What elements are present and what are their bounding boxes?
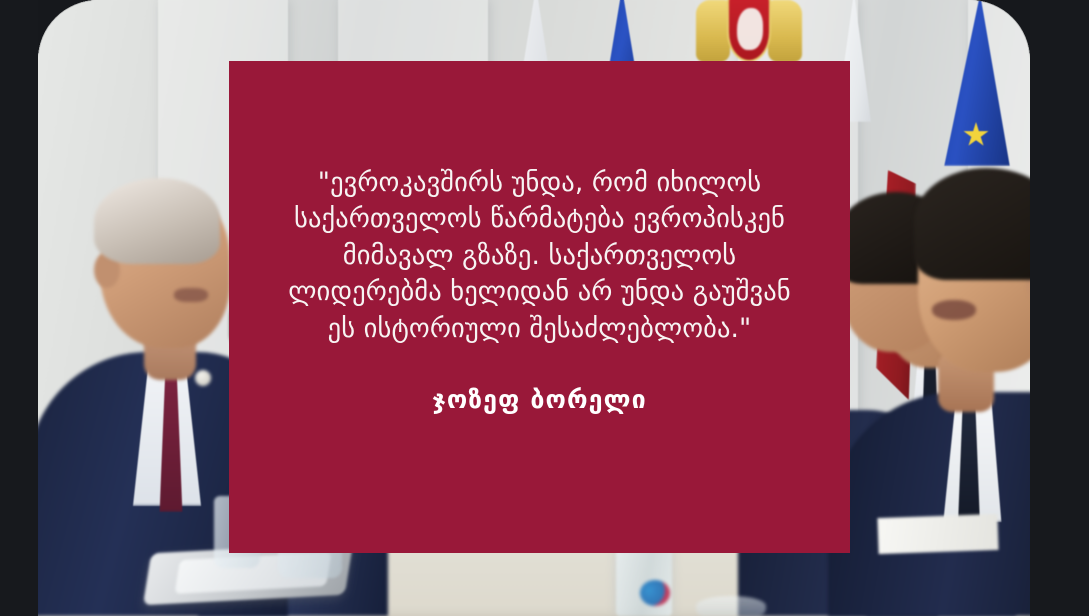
quote-author: ჯოზეფ ბორელი — [432, 385, 647, 414]
drinking-glass-center — [696, 596, 766, 616]
georgia-coat-of-arms-icon — [694, 0, 804, 68]
coat-shield — [727, 0, 771, 62]
frame-bar-left — [0, 0, 38, 616]
coat-lion-right — [768, 0, 802, 62]
coat-rider — [737, 8, 763, 50]
coat-lion-left — [696, 0, 730, 62]
quote-card: "ევროკავშირს უნდა, რომ იხილოს საქართველო… — [229, 61, 850, 553]
papers-right — [877, 514, 998, 554]
screenshot-root: "ევროკავშირს უნდა, რომ იხილოს საქართველო… — [0, 0, 1089, 616]
water-bottle-label — [640, 580, 670, 606]
frame-bar-right — [1030, 0, 1089, 616]
quote-text: "ევროკავშირს უნდა, რომ იხილოს საქართველო… — [229, 165, 850, 347]
josep-borrell-hair — [94, 178, 220, 264]
josep-borrell-lapel-pin — [195, 370, 211, 386]
josep-borrell-mouth — [174, 288, 208, 302]
irakli-garibashvili-mouth — [932, 300, 976, 320]
